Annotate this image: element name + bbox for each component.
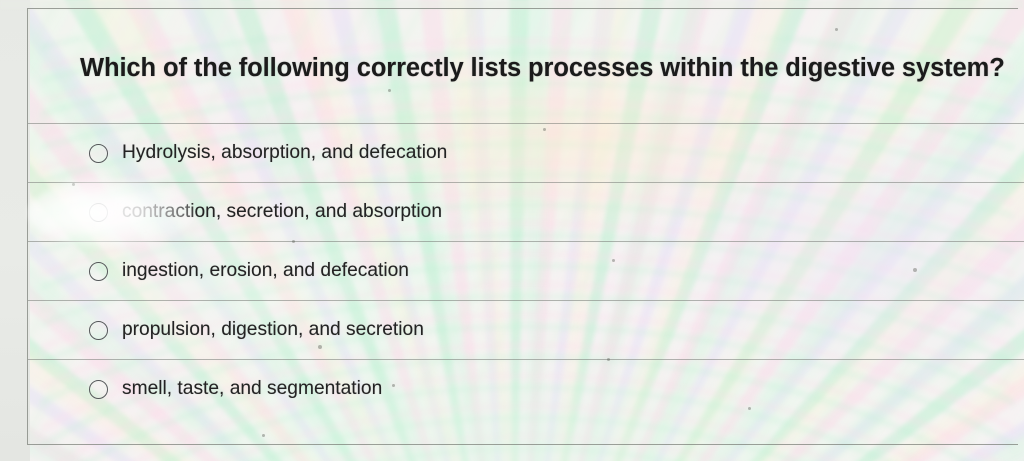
question-text: Which of the following correctly lists p… [80,54,1024,83]
answer-option-label: ingestion, erosion, and defecation [122,260,409,282]
radio-button-icon[interactable] [89,321,108,340]
photographed-screen: Which of the following correctly lists p… [0,0,1024,461]
radio-button-icon[interactable] [89,203,108,222]
answer-option-label: propulsion, digestion, and secretion [122,319,424,341]
answer-option-b[interactable]: contraction, secretion, and absorption [28,182,1024,241]
radio-button-icon[interactable] [89,144,108,163]
answer-option-d[interactable]: propulsion, digestion, and secretion [28,300,1024,359]
answer-option-e[interactable]: smell, taste, and segmentation [28,359,1024,418]
answer-option-label: Hydrolysis, absorption, and defecation [122,142,447,164]
radio-button-icon[interactable] [89,380,108,399]
answer-option-label: smell, taste, and segmentation [122,378,382,400]
quiz-card: Which of the following correctly lists p… [27,8,1018,445]
answer-option-a[interactable]: Hydrolysis, absorption, and defecation [28,123,1024,182]
paper-left-margin [0,0,30,461]
answer-option-label: contraction, secretion, and absorption [122,201,442,223]
answer-options-list: Hydrolysis, absorption, and defecation c… [28,123,1024,418]
radio-button-icon[interactable] [89,262,108,281]
answer-option-c[interactable]: ingestion, erosion, and defecation [28,241,1024,300]
